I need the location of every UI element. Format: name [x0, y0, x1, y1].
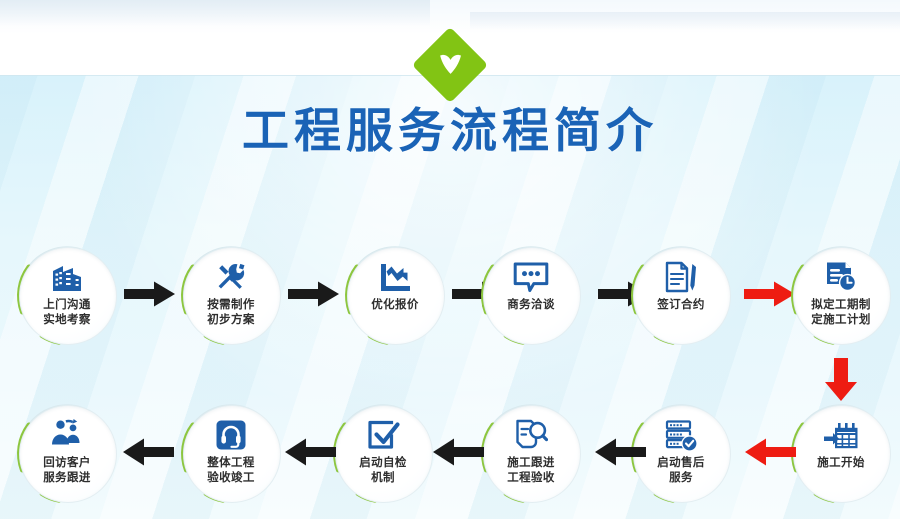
- headset-icon: [214, 418, 248, 452]
- flow-node-step-3[interactable]: 优化报价: [340, 240, 450, 350]
- building-icon: [50, 260, 84, 294]
- chart-down-icon: [378, 260, 412, 294]
- node-label: 上门沟通 实地考察: [43, 297, 91, 327]
- arrow-left-icon: [432, 438, 484, 466]
- flow-node-step-5[interactable]: 签订合约: [626, 240, 736, 350]
- flow-node-step-11[interactable]: 整体工程 验收竣工: [176, 398, 286, 508]
- calendar-start-icon: [823, 418, 859, 452]
- checkbox-icon: [366, 418, 400, 452]
- node-label: 商务洽谈: [507, 297, 555, 312]
- connector-1-2: [124, 281, 176, 311]
- node-label: 启动自检 机制: [359, 455, 407, 485]
- flow-node-step-4[interactable]: 商务洽谈: [476, 240, 586, 350]
- tools-icon: [214, 260, 248, 294]
- flow-diagram-page: 工程服务流程简介: [0, 0, 900, 519]
- node-label: 回访客户 服务跟进: [43, 455, 91, 485]
- node-label: 拟定工期制 定施工计划: [811, 297, 871, 327]
- node-label: 施工开始: [817, 455, 865, 470]
- doc-search-icon: [514, 418, 548, 452]
- arrow-right-icon: [124, 281, 176, 307]
- page-title: 工程服务流程简介: [0, 108, 900, 155]
- flow-node-step-1[interactable]: 上门沟通 实地考察: [12, 240, 122, 350]
- flow-node-step-10[interactable]: 启动自检 机制: [328, 398, 438, 508]
- background-top-wash-left: [0, 0, 430, 26]
- arrow-left-icon: [122, 438, 174, 466]
- node-label: 优化报价: [371, 297, 419, 312]
- node-label: 整体工程 验收竣工: [207, 455, 255, 485]
- background-top-wash-right: [470, 12, 900, 30]
- document-pen-icon: [663, 260, 699, 294]
- node-label: 施工跟进 工程验收: [507, 455, 555, 485]
- flow-node-step-6[interactable]: 拟定工期制 定施工计划: [786, 240, 896, 350]
- arrow-down-icon: [824, 358, 858, 402]
- connector-7-8: [744, 438, 796, 470]
- node-label: 签订合约: [657, 297, 705, 312]
- customer-care-icon: [49, 418, 85, 452]
- connector-11-12: [122, 438, 174, 470]
- document-clock-icon: [824, 260, 858, 294]
- chevron-heart-icon: [412, 27, 488, 103]
- speech-bubble-icon: [513, 260, 549, 294]
- arrow-left-icon: [744, 438, 796, 466]
- arrow-right-icon: [288, 281, 340, 307]
- arrow-left-icon: [284, 438, 336, 466]
- flow-node-step-9[interactable]: 施工跟进 工程验收: [476, 398, 586, 508]
- node-label: 按需制作 初步方案: [207, 297, 255, 327]
- connector-2-3: [288, 281, 340, 311]
- chevron-heart-glyph: [439, 54, 463, 74]
- page-header: 工程服务流程简介: [0, 38, 900, 155]
- server-check-icon: [664, 418, 698, 452]
- flow-node-step-7[interactable]: 施工开始: [786, 398, 896, 508]
- connector-10-11: [284, 438, 336, 470]
- arrow-left-icon: [594, 438, 646, 466]
- connector-8-9: [594, 438, 646, 470]
- flow-node-step-2[interactable]: 按需制作 初步方案: [176, 240, 286, 350]
- node-label: 启动售后 服务: [657, 455, 705, 485]
- connector-9-10: [432, 438, 484, 470]
- flow-node-step-12[interactable]: 回访客户 服务跟进: [12, 398, 122, 508]
